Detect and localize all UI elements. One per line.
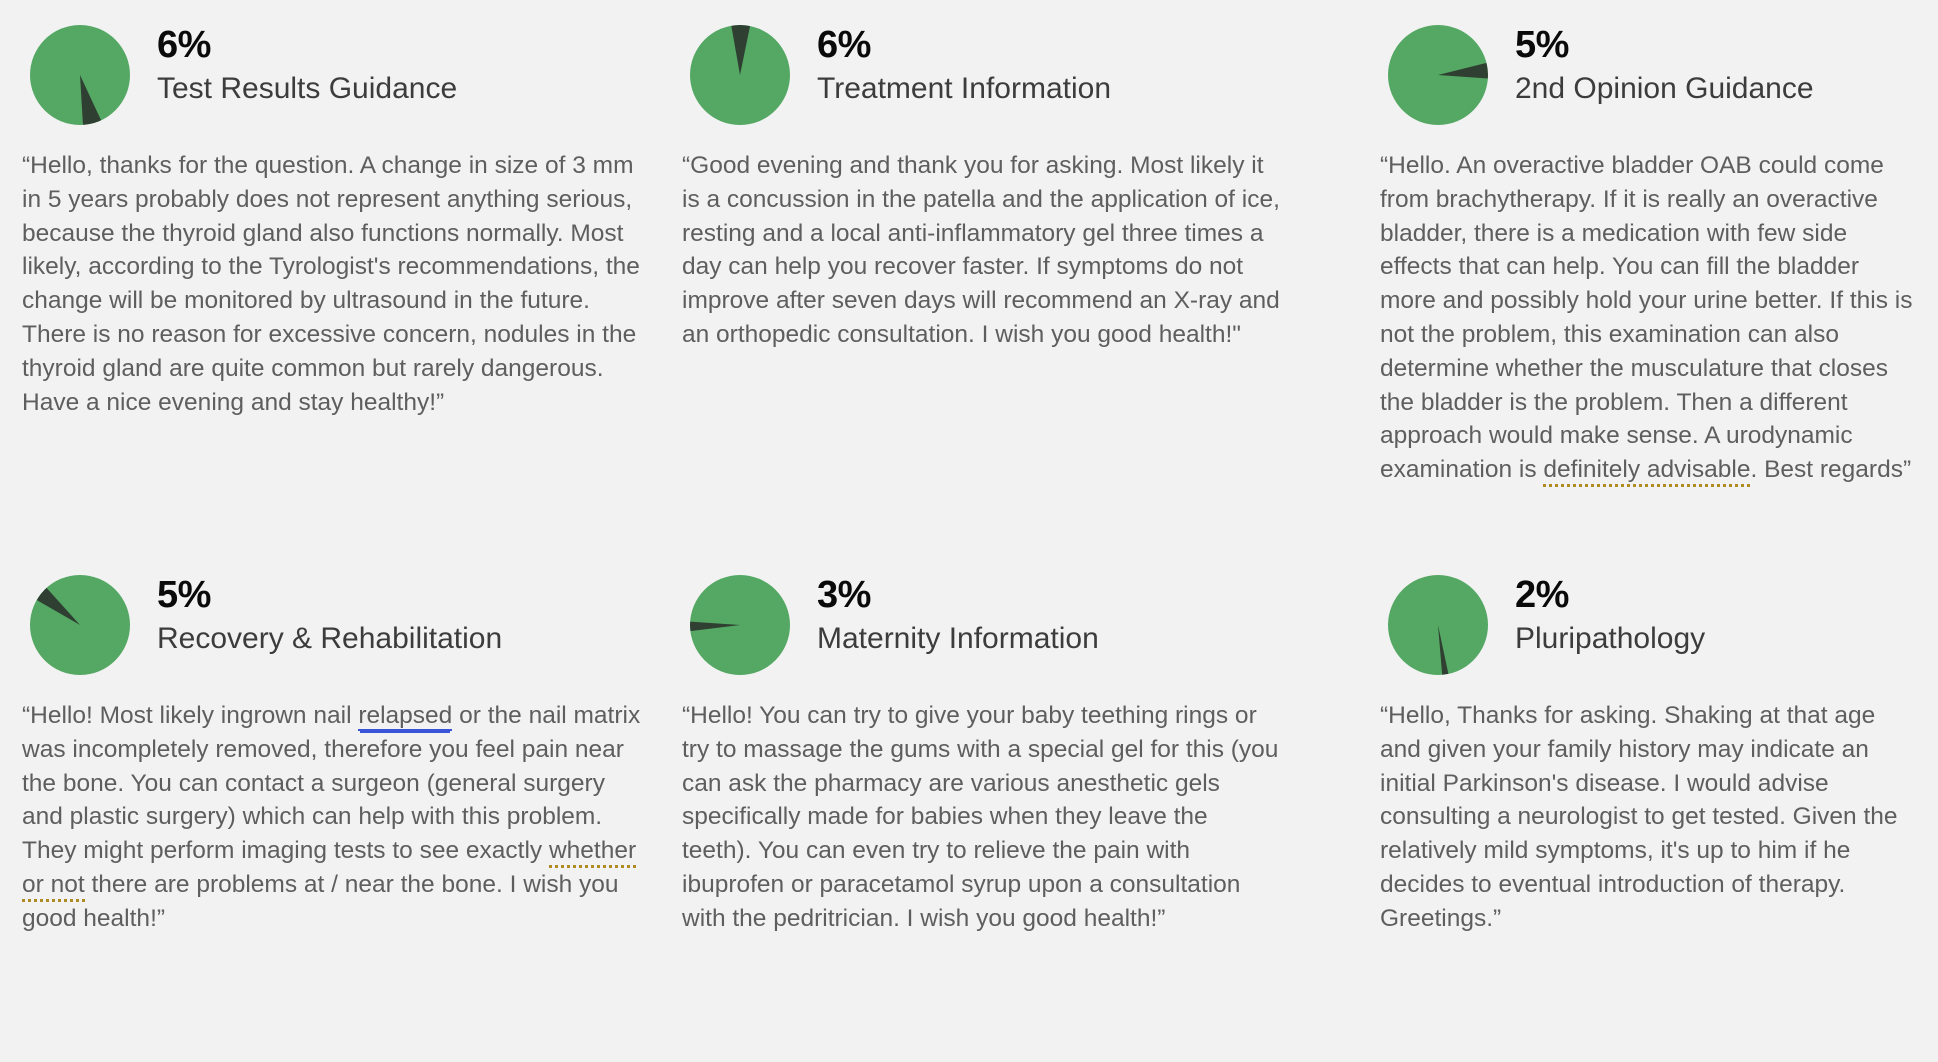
pie-chart-icon xyxy=(22,568,137,683)
stat-card-2nd-opinion-guidance: 5% 2nd Opinion Guidance “Hello. An overa… xyxy=(1380,18,1920,487)
stat-card-recovery-rehabilitation: 5% Recovery & Rehabilitation “Hello! Mos… xyxy=(22,568,642,936)
card-labels: 5% Recovery & Rehabilitation xyxy=(137,568,502,657)
pie-chart-icon xyxy=(1380,568,1495,683)
category-title: Recovery & Rehabilitation xyxy=(157,620,502,658)
card-header: 3% Maternity Information xyxy=(682,568,1282,683)
card-labels: 6% Test Results Guidance xyxy=(137,18,457,107)
grammar-suggestion[interactable]: whether or not xyxy=(22,837,636,902)
category-title: Pluripathology xyxy=(1515,620,1705,658)
quote-text: “Hello. An overactive bladder OAB could … xyxy=(1380,149,1920,487)
quote-text: “Good evening and thank you for asking. … xyxy=(682,149,1282,352)
quote-text: “Hello! Most likely ingrown nail relapse… xyxy=(22,699,642,936)
pie-chart-icon xyxy=(682,568,797,683)
percent-value: 5% xyxy=(157,576,502,616)
category-title: 2nd Opinion Guidance xyxy=(1515,70,1814,108)
grammar-suggestion[interactable]: definitely advisable xyxy=(1543,456,1750,487)
card-header: 6% Test Results Guidance xyxy=(22,18,642,133)
quote-text: “Hello, thanks for the question. A chang… xyxy=(22,149,642,419)
pie-card-grid: 6% Test Results Guidance “Hello, thanks … xyxy=(0,0,1938,1062)
card-header: 6% Treatment Information xyxy=(682,18,1282,133)
pie-slice xyxy=(690,575,790,675)
stat-card-pluripathology: 2% Pluripathology “Hello, Thanks for ask… xyxy=(1380,568,1920,936)
pie-slice xyxy=(1388,575,1488,675)
card-header: 2% Pluripathology xyxy=(1380,568,1920,683)
spelling-suggestion[interactable]: relapsed xyxy=(358,702,452,731)
percent-value: 3% xyxy=(817,576,1099,616)
pie-slice xyxy=(30,575,130,675)
pie-slice xyxy=(30,25,130,125)
percent-value: 2% xyxy=(1515,576,1705,616)
category-title: Test Results Guidance xyxy=(157,70,457,108)
quote-text: “Hello! You can try to give your baby te… xyxy=(682,699,1282,936)
pie-chart-icon xyxy=(682,18,797,133)
stat-card-maternity-information: 3% Maternity Information “Hello! You can… xyxy=(682,568,1282,936)
card-labels: 3% Maternity Information xyxy=(797,568,1099,657)
quote-text: “Hello, Thanks for asking. Shaking at th… xyxy=(1380,699,1920,936)
stat-card-treatment-information: 6% Treatment Information “Good evening a… xyxy=(682,18,1282,352)
stat-card-test-results-guidance: 6% Test Results Guidance “Hello, thanks … xyxy=(22,18,642,419)
percent-value: 6% xyxy=(157,26,457,66)
card-labels: 2% Pluripathology xyxy=(1495,568,1705,657)
percent-value: 6% xyxy=(817,26,1111,66)
percent-value: 5% xyxy=(1515,26,1814,66)
card-labels: 6% Treatment Information xyxy=(797,18,1111,107)
pie-chart-icon xyxy=(22,18,137,133)
card-labels: 5% 2nd Opinion Guidance xyxy=(1495,18,1814,107)
card-header: 5% Recovery & Rehabilitation xyxy=(22,568,642,683)
pie-chart-icon xyxy=(1380,18,1495,133)
card-header: 5% 2nd Opinion Guidance xyxy=(1380,18,1920,133)
pie-slice xyxy=(1388,25,1488,125)
category-title: Treatment Information xyxy=(817,70,1111,108)
category-title: Maternity Information xyxy=(817,620,1099,658)
pie-slice xyxy=(690,25,790,125)
